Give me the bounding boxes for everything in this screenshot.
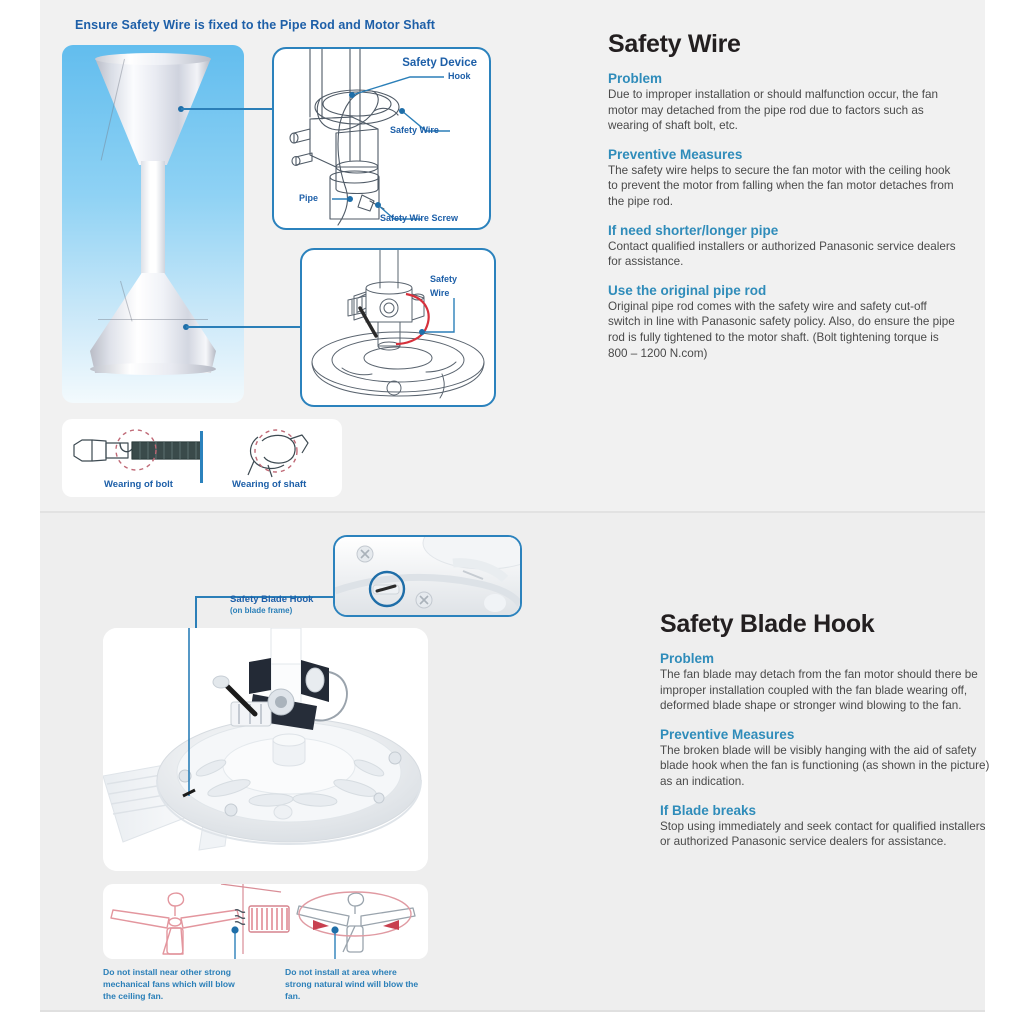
blade-hook-photo-art (335, 537, 520, 615)
wearing-of-bolt-caption: Wearing of bolt (104, 479, 173, 490)
wear-divider (200, 431, 203, 483)
safety-wire-title: Safety Wire (608, 30, 958, 59)
section1-header: Ensure Safety Wire is fixed to the Pipe … (75, 18, 435, 32)
motor-housing-bottom-rim (90, 363, 216, 375)
sw-heading-1: Preventive Measures (608, 147, 958, 162)
bh-heading-0: Problem (660, 651, 990, 666)
bh-heading-1: Preventive Measures (660, 727, 990, 742)
sw-body-2: Contact qualified installers or authoriz… (608, 239, 958, 270)
page-bottom-rule (40, 1010, 985, 1012)
blade-hook-sublabel: (on blade frame) (230, 606, 292, 615)
page-canvas: Ensure Safety Wire is fixed to the Pipe … (40, 0, 985, 1012)
section-safety-wire: Ensure Safety Wire is fixed to the Pipe … (40, 0, 985, 512)
sw-body-0: Due to improper installation or should m… (608, 87, 958, 134)
sw-body-1: The safety wire helps to secure the fan … (608, 163, 958, 210)
sw-heading-3: Use the original pipe rod (608, 283, 958, 298)
safety-wire-label: Safety Wire (390, 125, 439, 135)
motor-hub-photo-art (103, 628, 428, 871)
bh-heading-2: If Blade breaks (660, 803, 990, 818)
sw-heading-0: Problem (608, 71, 958, 86)
warning-caption-right: Do not install at area where strong natu… (285, 966, 425, 1002)
motor-top-line-art (302, 250, 494, 405)
motor-housing-top-rim (95, 53, 211, 65)
motor-housing-bottom (90, 273, 216, 373)
motor-safety-wire-label-line1: Safety (430, 274, 457, 284)
safety-wire-text-column: Safety Wire Problem Due to improper inst… (608, 30, 958, 361)
warning-line-art (103, 884, 428, 959)
blade-hook-text-column: Safety Blade Hook Problem The fan blade … (660, 610, 990, 850)
blade-hook-title: Safety Blade Hook (660, 610, 990, 639)
sw-heading-2: If need shorter/longer pipe (608, 223, 958, 238)
hook-label: Hook (448, 71, 471, 81)
bh-body-1: The broken blade will be visibly hanging… (660, 743, 990, 790)
safety-device-detail-box: Safety Device (272, 47, 491, 230)
wear-examples-box: Wearing of bolt Wearing of shaft (62, 419, 342, 497)
fan-assembly-illustration (62, 45, 244, 403)
motor-top-detail-box: Safety Wire (300, 248, 496, 407)
leader-line-bottom (186, 326, 300, 328)
blade-hook-label: Safety Blade Hook (230, 594, 313, 605)
sw-body-3: Original pipe rod comes with the safety … (608, 299, 958, 361)
housing-ring-line (98, 319, 208, 320)
safety-wire-screw-label: Safety Wire Screw (380, 213, 458, 223)
blade-hook-closeup (333, 535, 522, 617)
installation-warning-box (103, 884, 428, 959)
bh-body-0: The fan blade may detach from the fan mo… (660, 667, 990, 714)
pipe-rod (141, 161, 165, 278)
motor-hub-photo (103, 628, 428, 871)
motor-safety-wire-label-line2: Wire (430, 288, 449, 298)
warning-caption-left: Do not install near other strong mechani… (103, 966, 243, 1002)
pipe-label: Pipe (299, 193, 318, 203)
bh-body-2: Stop using immediately and seek contact … (660, 819, 990, 850)
wearing-of-shaft-caption: Wearing of shaft (232, 479, 306, 490)
